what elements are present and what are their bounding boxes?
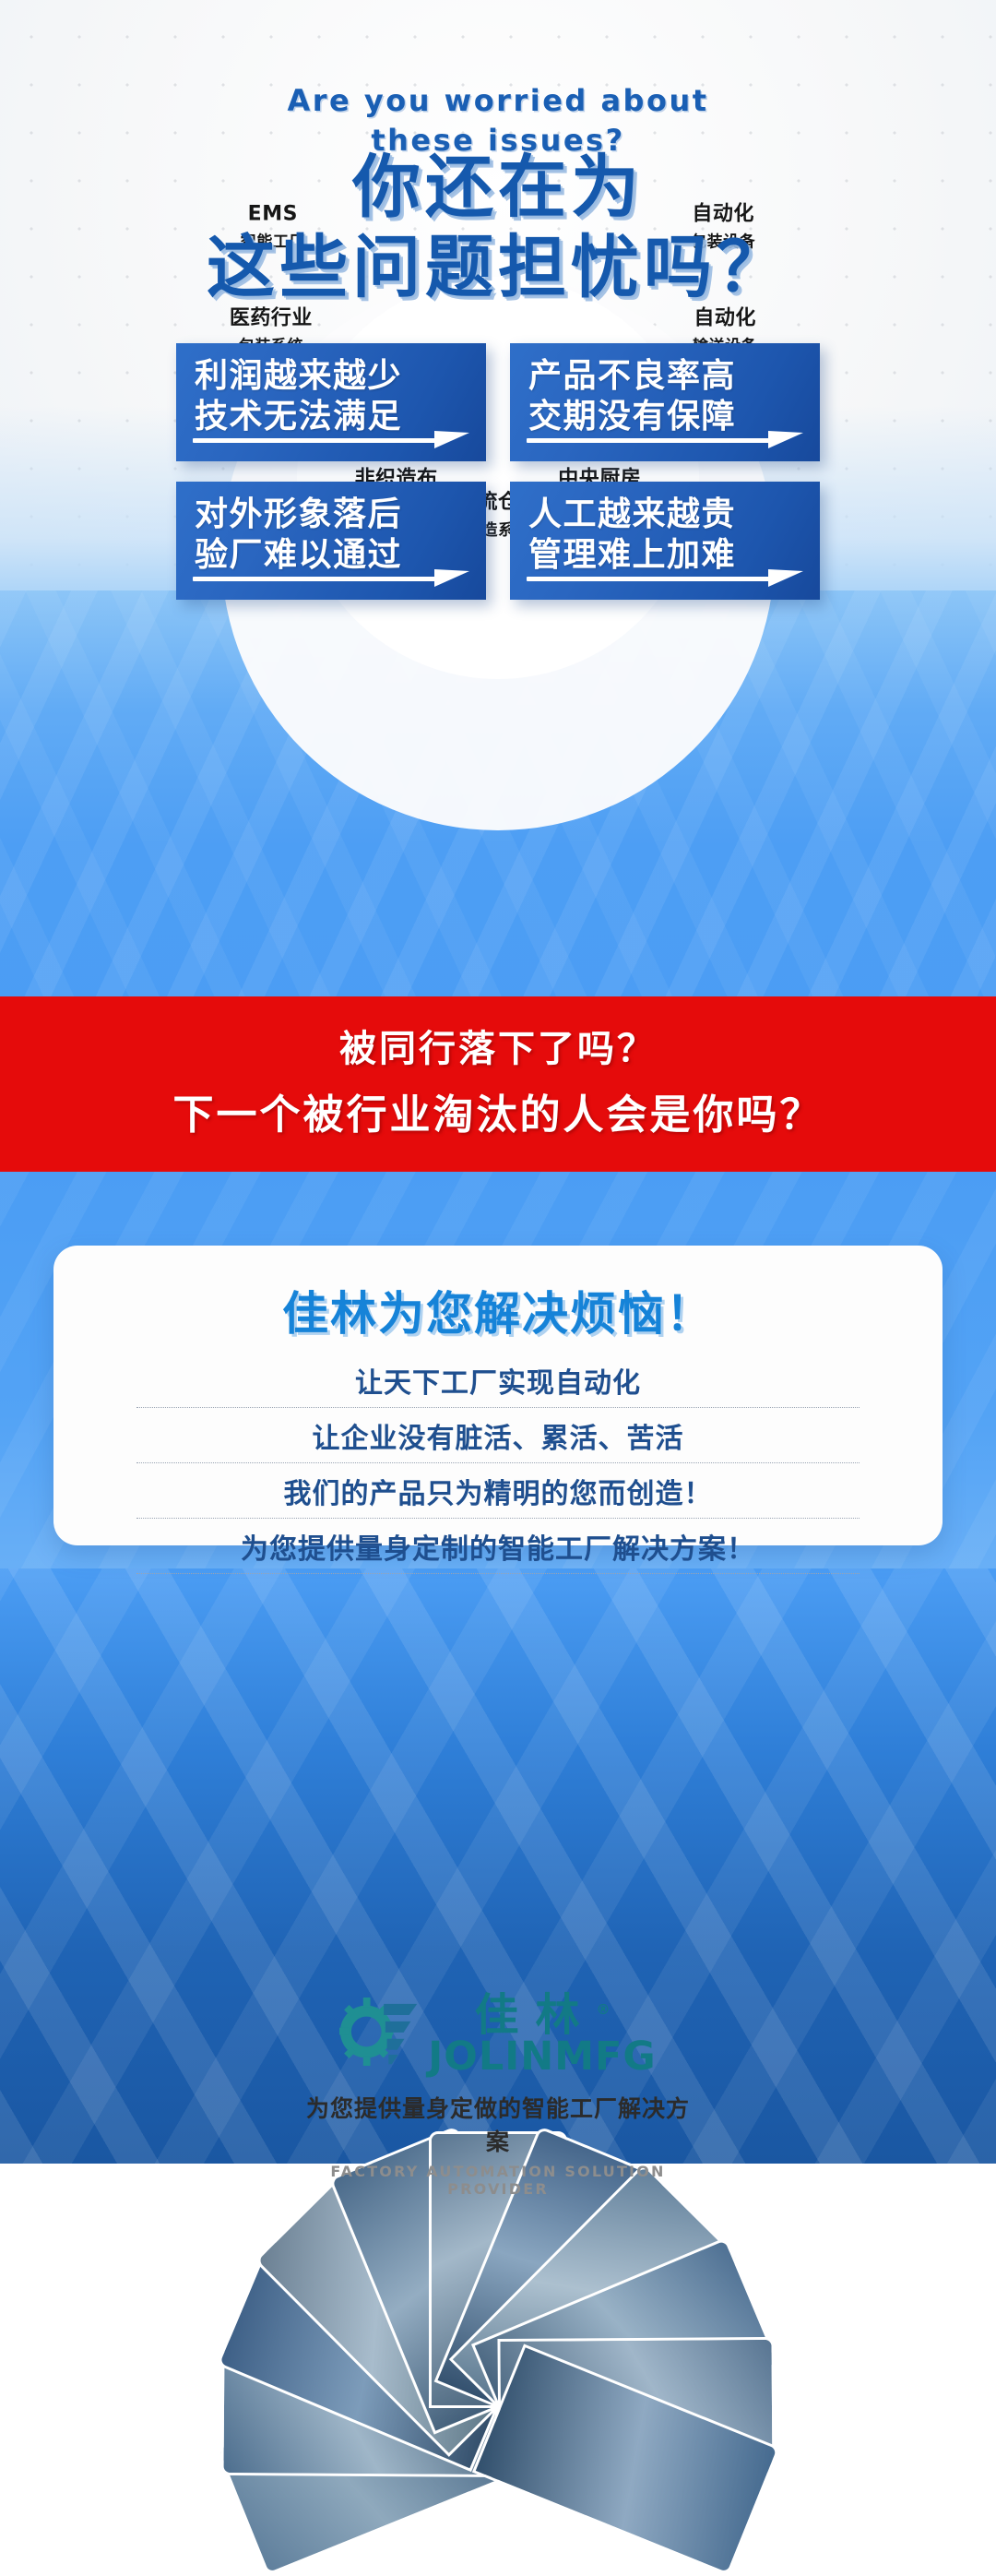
red-banner-line1: 被同行落下了吗？ (0, 1019, 996, 1072)
red-banner-line2: 下一个被行业淘汰的人会是你吗？ (0, 1081, 996, 1140)
problem-box-line1: 利润越来越少 (195, 356, 402, 397)
solution-line: 为您提供量身定制的智能工厂解决方案！ (136, 1518, 860, 1574)
problem-box-line1: 人工越来越贵 (528, 495, 736, 535)
english-subtitle-line1: Are you worried about (0, 81, 996, 121)
arrow-right-icon (527, 428, 803, 448)
problem-box: 利润越来越少 技术无法满足 (176, 343, 486, 461)
logo-chinese-name: 佳林® (428, 1978, 656, 2043)
solution-card-title: 佳林为您解决烦恼！ (53, 1277, 943, 1343)
arrow-right-icon (193, 566, 469, 587)
arrow-right-icon (193, 428, 469, 448)
problem-box: 产品不良率高 交期没有保障 (510, 343, 820, 461)
gear-logo-icon (339, 1998, 419, 2066)
problem-box: 人工越来越贵 管理难上加难 (510, 482, 820, 600)
problem-box-text: 人工越来越贵 管理难上加难 (528, 495, 736, 576)
problem-box-text: 利润越来越少 技术无法满足 (195, 356, 402, 437)
headline-line2: 这些问题担忧吗？ (0, 228, 996, 308)
wheel-segment-title: 自动化 (656, 307, 794, 330)
logo-sub-slogan: FACTORY AUTOMATION SOLUTION PROVIDER (300, 2163, 696, 2198)
wheel-segment-title: 医药行业 (202, 307, 340, 330)
arrow-right-icon (527, 566, 803, 587)
problem-box-text: 对外形象落后 验厂难以通过 (195, 495, 402, 576)
problem-box: 对外形象落后 验厂难以通过 (176, 482, 486, 600)
registered-mark-icon: ® (597, 2001, 611, 2018)
logo-slogan: 为您提供量身定做的智能工厂解决方案 (300, 2091, 696, 2157)
company-logo-block: 佳林® JOLINMFG 为您提供量身定做的智能工厂解决方案 FACTORY A… (300, 1984, 696, 2198)
logo-row: 佳林® JOLINMFG (300, 1984, 696, 2080)
headline-line1: 你还在为 (0, 148, 996, 228)
infographic-page: Are you worried about these issues? 你还在为… (0, 0, 996, 2164)
problem-box-text: 产品不良率高 交期没有保障 (528, 356, 736, 437)
solution-card-lines: 让天下工厂实现自动化 让企业没有脏活、累活、苦活 我们的产品只为精明的您而创造！… (136, 1353, 860, 1574)
problem-box-line1: 产品不良率高 (528, 356, 736, 397)
solution-line: 我们的产品只为精明的您而创造！ (136, 1462, 860, 1518)
page-title: 你还在为 这些问题担忧吗？ (0, 148, 996, 309)
solution-card: 佳林为您解决烦恼！ 让天下工厂实现自动化 让企业没有脏活、累活、苦活 我们的产品… (53, 1246, 943, 1545)
problem-box-line1: 对外形象落后 (195, 495, 402, 535)
problem-box-grid: 利润越来越少 技术无法满足 产品不良率高 交期没有保障 对外形象落后 验厂难以通… (0, 343, 996, 620)
solution-line: 让天下工厂实现自动化 (136, 1353, 860, 1407)
solution-line: 让企业没有脏活、累活、苦活 (136, 1407, 860, 1462)
red-warning-banner: 被同行落下了吗？ 下一个被行业淘汰的人会是你吗？ (0, 996, 996, 1172)
